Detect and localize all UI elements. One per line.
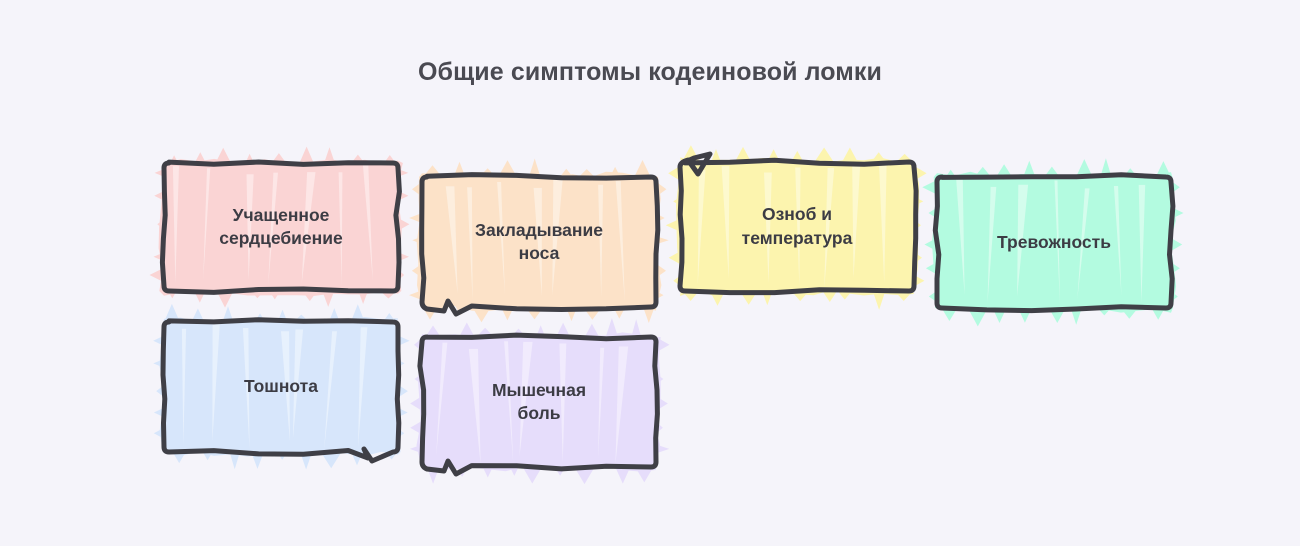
symptom-card: Тревожность: [921, 161, 1187, 324]
card-fill: [150, 147, 410, 308]
symptom-card: Закладывание носа: [406, 161, 672, 323]
card-shape: [148, 306, 414, 468]
card-fill: [666, 145, 927, 310]
card-shape: [921, 161, 1187, 324]
page-title: Общие симптомы кодеиновой ломки: [0, 58, 1300, 87]
symptom-card: Тошнота: [148, 306, 414, 468]
symptom-card: Мышечная боль: [406, 321, 672, 483]
symptom-card: Учащенное сердцебиение: [148, 147, 414, 307]
card-shape: [664, 146, 930, 307]
symptom-card: Озноб и температура: [664, 146, 930, 307]
infographic-canvas: Общие симптомы кодеиновой ломки Учащенно…: [0, 0, 1300, 546]
card-fill: [409, 159, 669, 324]
card-shape: [406, 161, 672, 323]
card-shape: [406, 321, 672, 483]
card-fill: [153, 304, 409, 470]
card-shape: [148, 147, 414, 307]
card-fill: [922, 158, 1183, 326]
